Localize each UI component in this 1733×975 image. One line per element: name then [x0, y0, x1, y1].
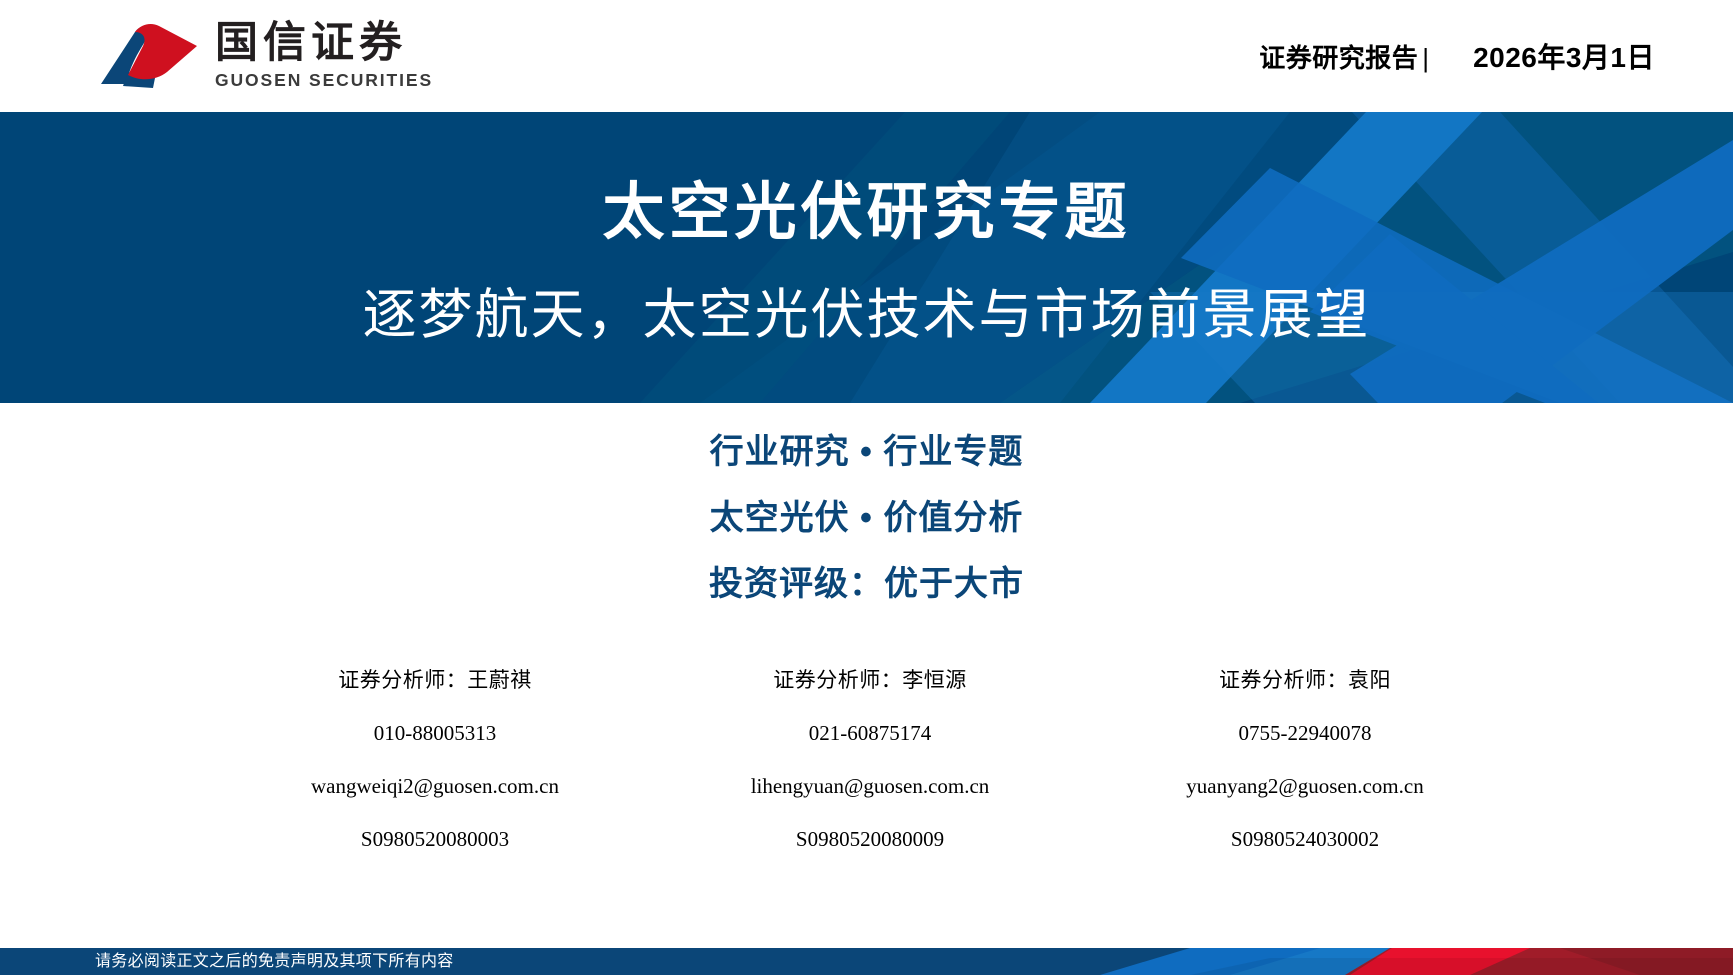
report-type-label: 证券研究报告: [1259, 38, 1418, 75]
report-subtitle: 逐梦航天，太空光伏技术与市场前景展望: [363, 283, 1371, 348]
analyst-card: 证券分析师：王蔚祺 010-88005313 wangweiqi2@guosen…: [235, 670, 635, 850]
page-footer: 请务必阅读正文之后的免责声明及其项下所有内容: [0, 948, 1733, 975]
industry-research-label: 行业研究 • 行业专题: [0, 435, 1733, 469]
investment-rating-label: 投资评级：优于大市: [0, 567, 1733, 601]
analyst-name: 证券分析师：李恒源: [670, 670, 1070, 691]
analyst-name: 证券分析师：袁阳: [1105, 670, 1505, 691]
analyst-phone: 0755-22940078: [1105, 723, 1505, 744]
analyst-license-code: S0980524030002: [1105, 829, 1505, 850]
banner-text-block: 太空光伏研究专题 逐梦航天，太空光伏技术与市场前景展望: [0, 112, 1733, 403]
analyst-card: 证券分析师：李恒源 021-60875174 lihengyuan@guosen…: [670, 670, 1070, 850]
analyst-email[interactable]: lihengyuan@guosen.com.cn: [670, 776, 1070, 797]
topic-value-label: 太空光伏 • 价值分析: [0, 501, 1733, 535]
header-separator: |: [1422, 43, 1429, 74]
analyst-phone: 010-88005313: [235, 723, 635, 744]
header-meta: 证券研究报告 | 2026年3月1日: [1259, 36, 1655, 76]
report-date: 2026年3月1日: [1473, 36, 1655, 76]
report-title: 太空光伏研究专题: [602, 177, 1130, 248]
title-banner: 太空光伏研究专题 逐梦航天，太空光伏技术与市场前景展望: [0, 112, 1733, 403]
brand-name-en: GUOSEN SECURITIES: [215, 70, 433, 91]
analyst-contact-group: 证券分析师：王蔚祺 010-88005313 wangweiqi2@guosen…: [235, 670, 1505, 850]
report-cover-page: 国信证券 GUOSEN SECURITIES 证券研究报告 | 2026年3月1…: [0, 0, 1733, 975]
report-meta-block: 行业研究 • 行业专题 太空光伏 • 价值分析 投资评级：优于大市: [0, 403, 1733, 601]
brand-name-cn: 国信证券: [215, 21, 407, 66]
page-header: 国信证券 GUOSEN SECURITIES 证券研究报告 | 2026年3月1…: [0, 0, 1733, 112]
analyst-name: 证券分析师：王蔚祺: [235, 670, 635, 691]
disclaimer-note: 请务必阅读正文之后的免责声明及其项下所有内容: [95, 948, 454, 975]
analyst-license-code: S0980520080003: [235, 829, 635, 850]
analyst-card: 证券分析师：袁阳 0755-22940078 yuanyang2@guosen.…: [1105, 670, 1505, 850]
brand-wordmark: 国信证券 GUOSEN SECURITIES: [215, 21, 433, 90]
analyst-email[interactable]: yuanyang2@guosen.com.cn: [1105, 776, 1505, 797]
analyst-license-code: S0980520080009: [670, 829, 1070, 850]
brand-logo[interactable]: 国信证券 GUOSEN SECURITIES: [95, 20, 433, 92]
analyst-phone: 021-60875174: [670, 723, 1070, 744]
analyst-email[interactable]: wangweiqi2@guosen.com.cn: [235, 776, 635, 797]
guosen-logo-icon: [95, 20, 205, 92]
